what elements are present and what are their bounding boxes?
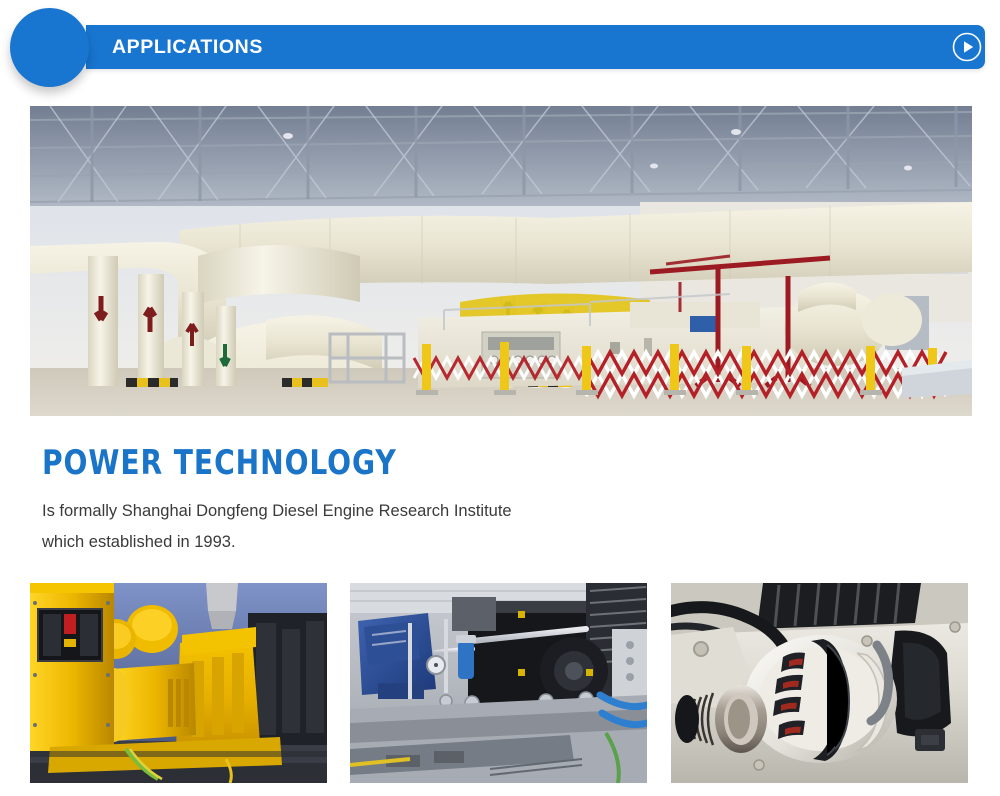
header-decorative-circle xyxy=(10,8,89,87)
thumbnail-alternator-closeup[interactable] xyxy=(671,583,968,783)
section-description: Is formally Shanghai Dongfeng Diesel Eng… xyxy=(42,496,742,558)
description-line-1: Is formally Shanghai Dongfeng Diesel Eng… xyxy=(42,496,742,527)
thumbnail-engine-test-bench[interactable] xyxy=(350,583,647,783)
play-circle-icon[interactable] xyxy=(951,31,983,63)
thumbnail-diesel-generator[interactable] xyxy=(30,583,327,783)
image-gallery xyxy=(30,583,972,783)
description-line-2: which established in 1993. xyxy=(42,527,742,558)
section-headline: POWER TECHNOLOGY xyxy=(42,443,397,483)
hero-image-power-plant-interior xyxy=(30,106,972,416)
page-title: APPLICATIONS xyxy=(112,33,263,61)
applications-header: APPLICATIONS xyxy=(0,0,1000,96)
